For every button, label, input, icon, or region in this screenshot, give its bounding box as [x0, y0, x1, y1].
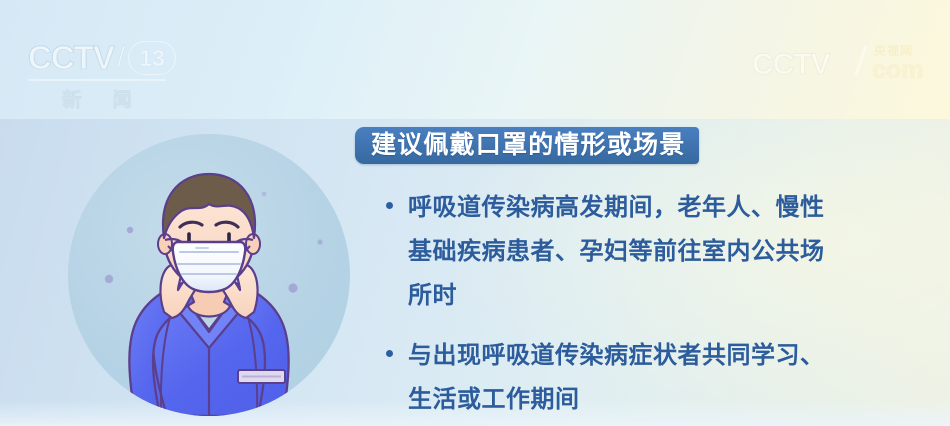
page-title: 建议佩戴口罩的情形或场景	[371, 133, 685, 158]
watermark-brand: CCTV	[752, 48, 830, 82]
list-item: 与出现呼吸道传染病症状者共同学习、 生活或工作期间	[378, 334, 938, 422]
cctv-logo-underline	[28, 79, 166, 81]
bullet-line: 生活或工作期间	[408, 378, 938, 422]
cctv-slash-icon: /	[117, 41, 125, 75]
bullet-line: 呼吸道传染病高发期间，老年人、慢性	[408, 186, 938, 230]
watermark-slash-icon: /	[853, 40, 867, 86]
cctv13-logo: CCTV / 13 新 闻	[28, 38, 178, 108]
bullet-dot-icon	[386, 202, 393, 209]
news-graphic-screen: CCTV / 13 新 闻 CCTV / 央视网 com	[0, 0, 950, 426]
cctv-wordmark: CCTV	[28, 39, 114, 77]
cctv-com-watermark: CCTV / 央视网 com	[752, 40, 932, 88]
illustration-container	[68, 134, 350, 416]
watermark-domain: com	[872, 56, 923, 85]
cctv-channel-name: 新 闻	[28, 85, 166, 112]
list-item: 呼吸道传染病高发期间，老年人、慢性 基础疾病患者、孕妇等前往室内公共场 所时	[378, 186, 938, 318]
cctv13-logo-row: CCTV / 13	[28, 38, 178, 78]
bullet-list: 呼吸道传染病高发期间，老年人、慢性 基础疾病患者、孕妇等前往室内公共场 所时 与…	[378, 186, 938, 426]
person-wearing-mask-illustration	[68, 134, 350, 416]
bullet-dot-icon	[386, 350, 393, 357]
channel-number-badge: 13	[128, 41, 176, 75]
title-banner: 建议佩戴口罩的情形或场景	[355, 127, 699, 164]
bullet-line: 所时	[408, 274, 938, 318]
bullet-line: 基础疾病患者、孕妇等前往室内公共场	[408, 230, 938, 274]
bullet-line: 与出现呼吸道传染病症状者共同学习、	[408, 334, 938, 378]
